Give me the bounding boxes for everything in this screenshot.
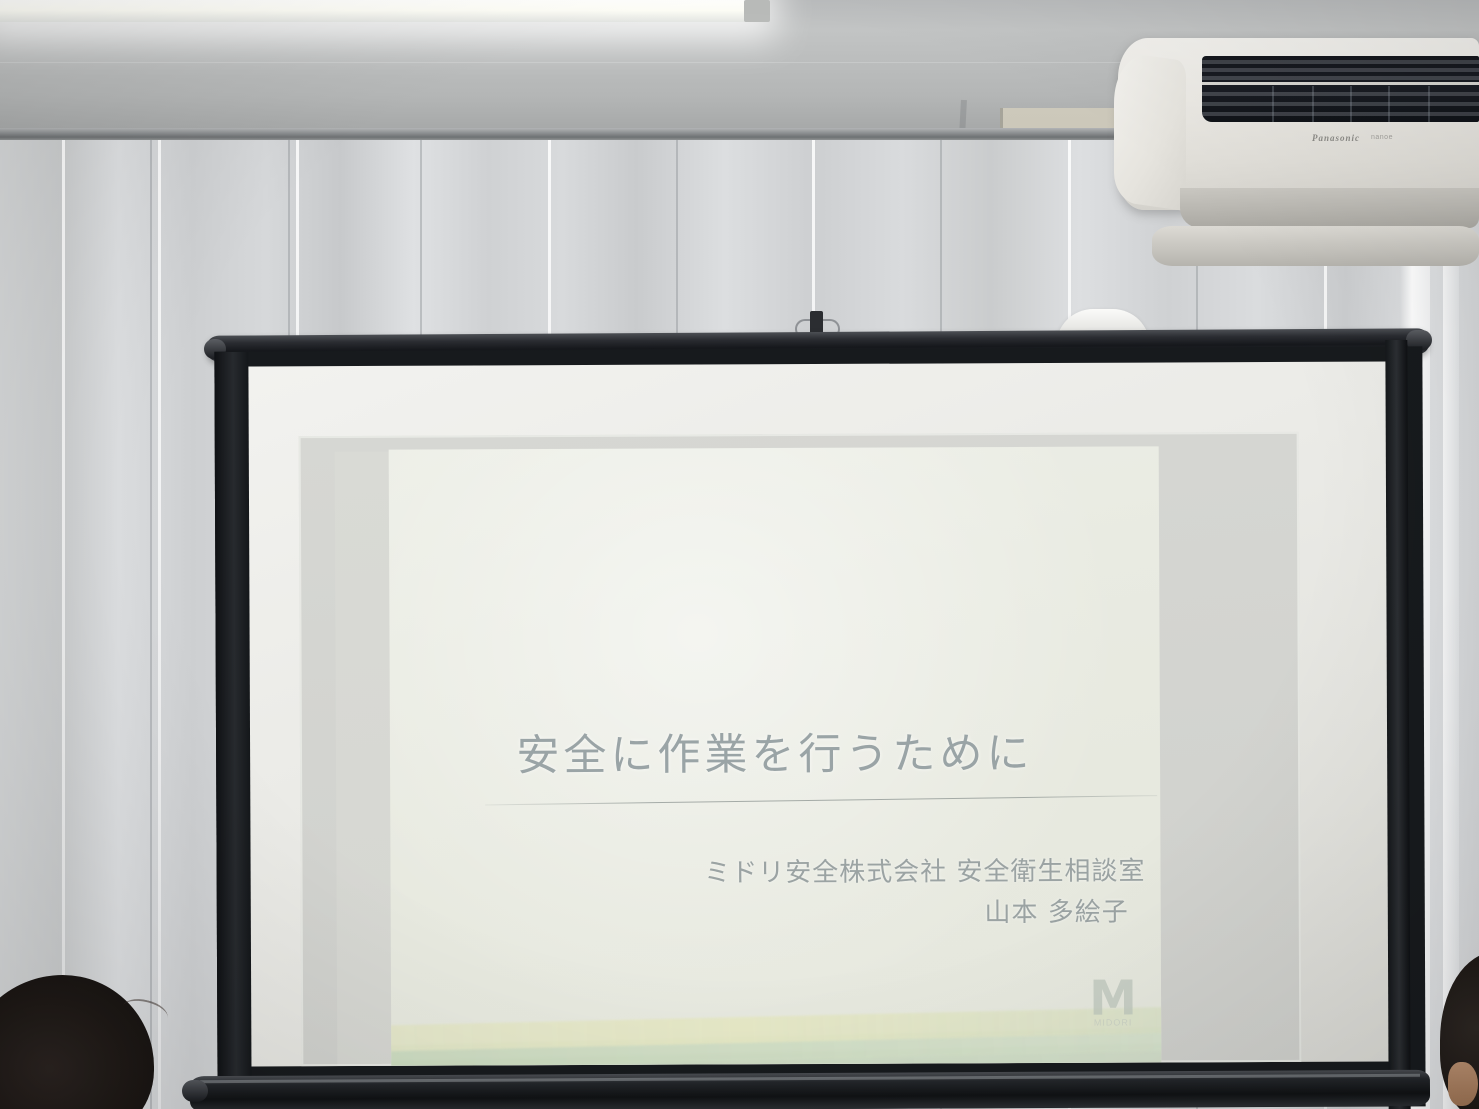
slide-title: 安全に作業を行うために bbox=[390, 718, 1160, 783]
wall-mounted-air-conditioner: Panasonic nanoe bbox=[1118, 38, 1479, 238]
midori-logo-submark: MIDORI bbox=[1083, 1017, 1143, 1027]
blind-slat-highlight bbox=[158, 140, 161, 1109]
ac-vane bbox=[1350, 86, 1352, 122]
ac-louver bbox=[1202, 60, 1479, 64]
ac-vane bbox=[1312, 86, 1314, 122]
ac-louver bbox=[1202, 92, 1479, 96]
ac-louver bbox=[1202, 76, 1479, 80]
presentation-room-photo: Panasonic nanoe 安全に作業を行うために ミドリ安全株式会社 安全… bbox=[0, 0, 1479, 1109]
ac-louver bbox=[1202, 68, 1479, 72]
ac-side-cap bbox=[1114, 51, 1186, 211]
audience-ear-right bbox=[1448, 1062, 1478, 1106]
ac-louver bbox=[1202, 102, 1479, 106]
ac-grille-separator bbox=[1202, 82, 1479, 85]
presentation-slide: 安全に作業を行うために ミドリ安全株式会社 安全衛生相談室 山本 多絵子 M M… bbox=[389, 446, 1162, 1065]
title-divider-rule bbox=[485, 795, 1157, 805]
blind-backlit-band bbox=[1443, 200, 1459, 1109]
blind-slat-highlight bbox=[62, 140, 65, 1109]
slide-organization: ミドリ安全株式会社 安全衛生相談室 bbox=[704, 850, 1145, 889]
ac-louver bbox=[1202, 112, 1479, 116]
ac-vane bbox=[1272, 86, 1274, 122]
ac-duct-cover bbox=[1152, 226, 1479, 266]
midori-logo: M MIDORI bbox=[1083, 976, 1143, 1032]
screen-frame-right-post bbox=[1385, 340, 1410, 1109]
light-fixture-end-cap bbox=[744, 0, 770, 22]
ac-sub-mark-label: nanoe bbox=[1371, 134, 1393, 141]
ac-underside bbox=[1180, 188, 1479, 228]
fluorescent-light-strip bbox=[0, 0, 760, 22]
screen-frame-left-post bbox=[214, 352, 251, 1109]
ac-vane bbox=[1388, 86, 1390, 122]
midori-logo-mark: M bbox=[1083, 976, 1143, 1020]
slide-author: 山本 多絵子 bbox=[984, 891, 1128, 929]
ac-intake-grille bbox=[1202, 56, 1479, 122]
ac-vane bbox=[1428, 86, 1430, 122]
blind-slat-shadow bbox=[150, 140, 152, 1109]
ac-brand-label: Panasonic bbox=[1312, 133, 1360, 143]
bottom-bar-end-cap-left bbox=[182, 1080, 208, 1102]
